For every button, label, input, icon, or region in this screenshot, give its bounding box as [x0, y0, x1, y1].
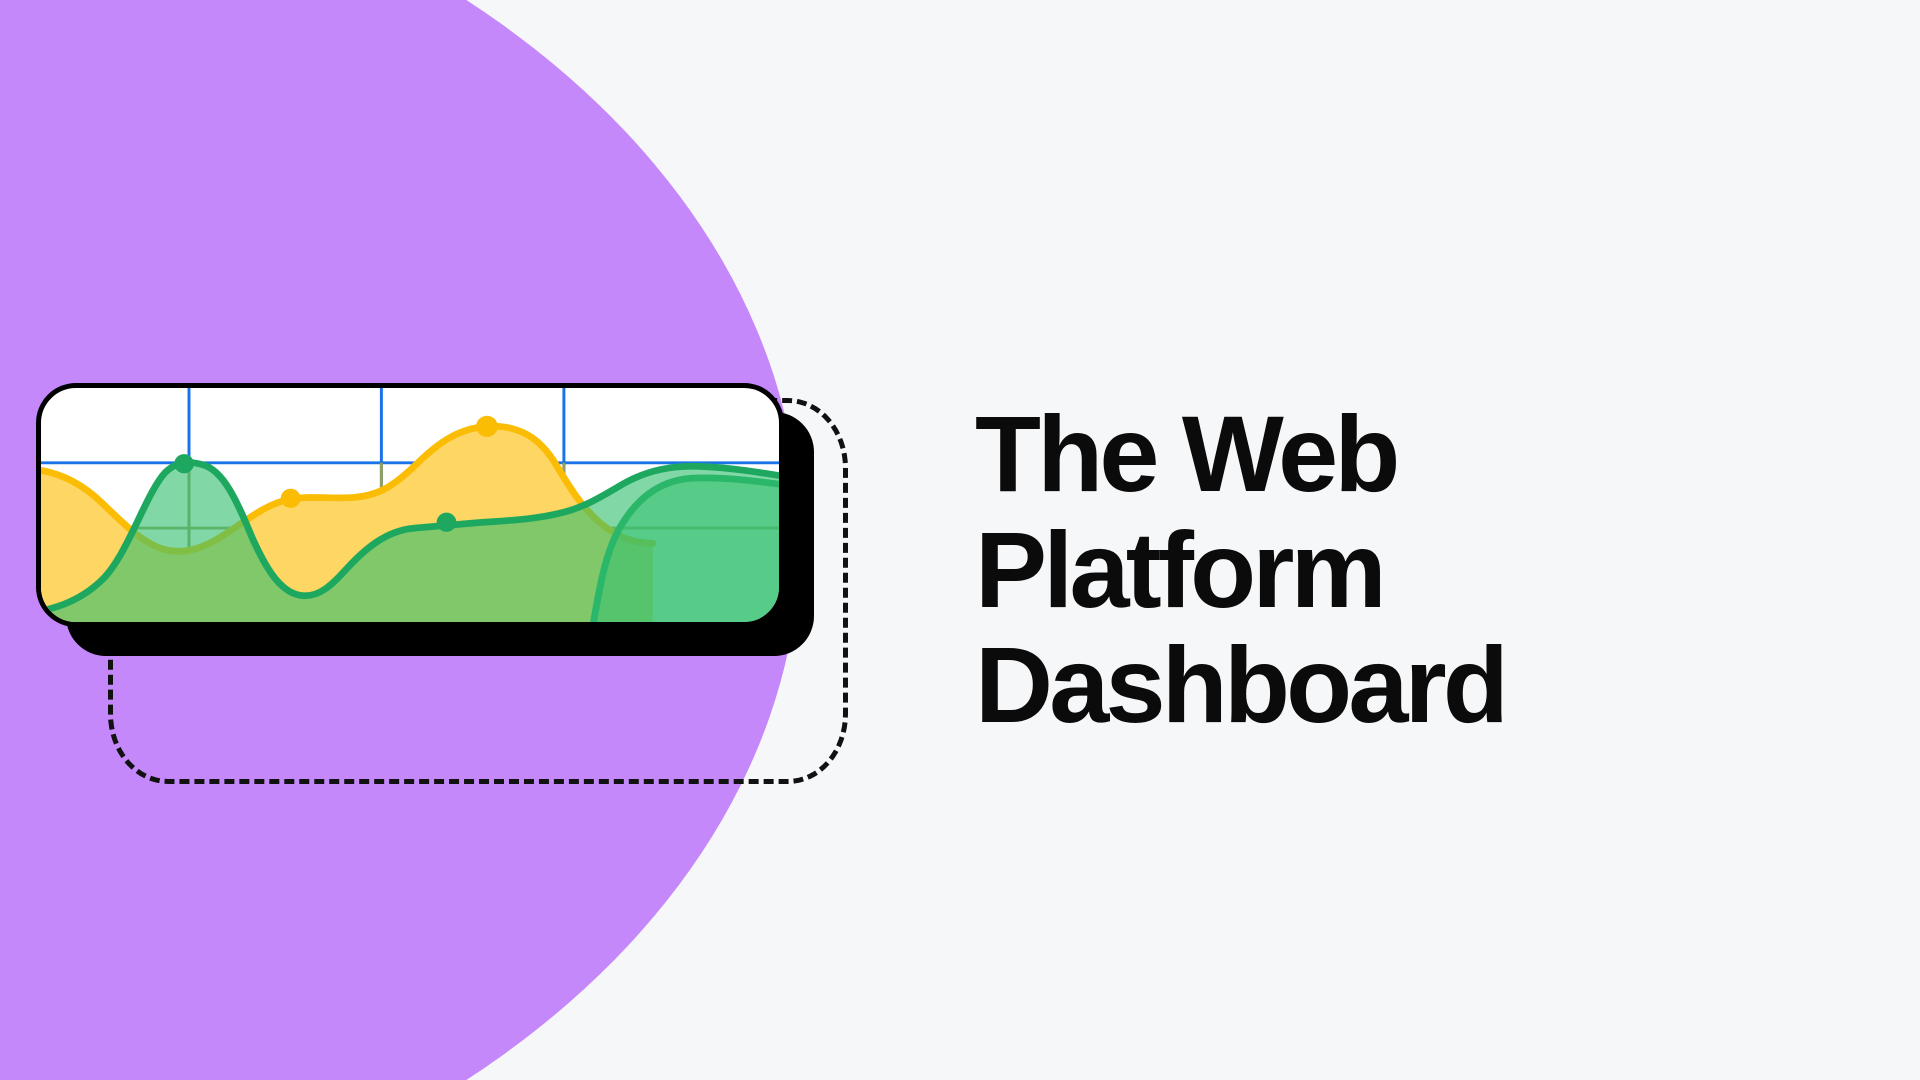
marker-green-2[interactable]	[437, 513, 457, 532]
page-title-line-3: Dashboard	[975, 627, 1735, 743]
chart-card[interactable]	[36, 383, 784, 627]
page-title-line-1: The Web	[975, 396, 1735, 512]
marker-yellow-1[interactable]	[281, 489, 301, 508]
hero-composition: The Web Platform Dashboard	[0, 0, 1920, 1080]
area-chart-svg	[41, 388, 779, 622]
page-root: The Web Platform Dashboard	[0, 0, 1920, 1080]
marker-yellow-2[interactable]	[476, 416, 498, 437]
page-title-line-2: Platform	[975, 512, 1735, 628]
page-title: The Web Platform Dashboard	[975, 396, 1735, 743]
marker-green-1[interactable]	[174, 454, 194, 473]
